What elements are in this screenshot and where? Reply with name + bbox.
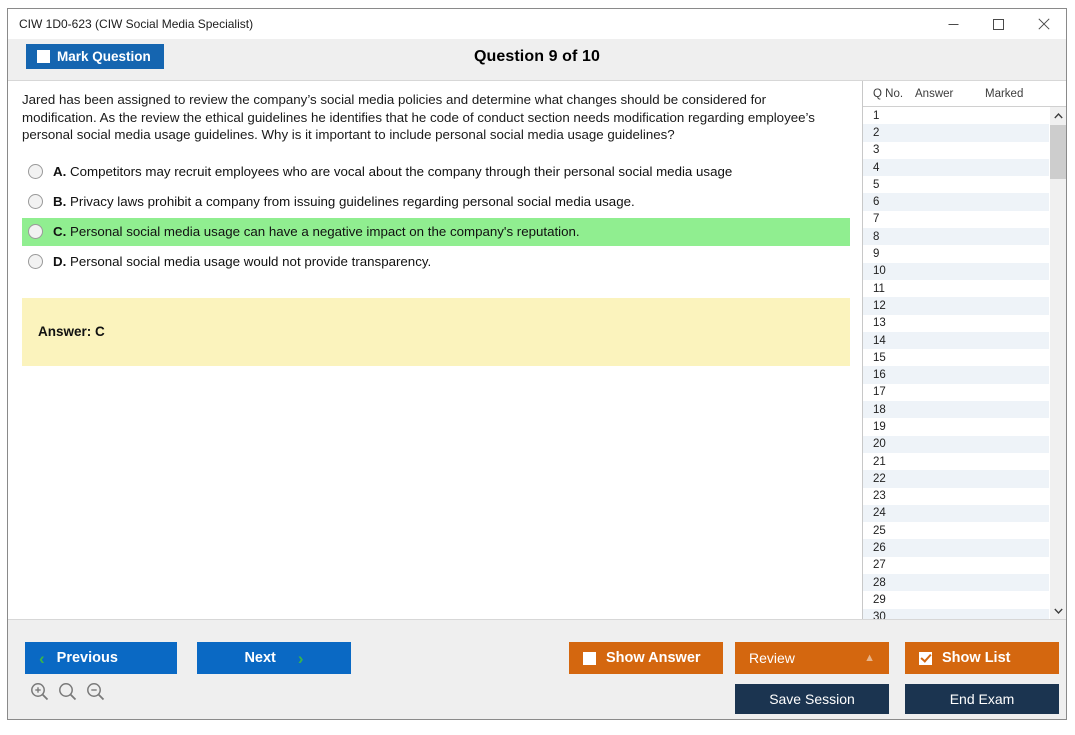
question-list-row[interactable]: 16 <box>863 366 1049 383</box>
question-list-row[interactable]: 7 <box>863 211 1049 228</box>
answer-option-body: Personal social media usage would not pr… <box>70 254 431 269</box>
show-list-label: Show List <box>942 650 1010 666</box>
save-session-label: Save Session <box>769 691 855 707</box>
answer-options-list: A. Competitors may recruit employees who… <box>22 158 850 276</box>
previous-label: Previous <box>57 650 118 666</box>
question-list-row[interactable]: 22 <box>863 470 1049 487</box>
question-number-cell: 15 <box>863 352 915 364</box>
question-list-row[interactable]: 26 <box>863 539 1049 556</box>
show-list-button[interactable]: Show List <box>905 642 1059 674</box>
body-area: Jared has been assigned to review the co… <box>8 81 1066 619</box>
show-list-checkbox-icon <box>919 652 932 665</box>
answer-option-body: Competitors may recruit employees who ar… <box>70 164 732 179</box>
question-list-row[interactable]: 23 <box>863 488 1049 505</box>
question-number-cell: 17 <box>863 386 915 398</box>
question-list-scrollbar[interactable] <box>1049 107 1066 619</box>
chevron-left-icon: ‹ <box>39 650 45 667</box>
header-strip: Mark Question Question 9 of 10 <box>8 39 1066 81</box>
question-list-row[interactable]: 25 <box>863 522 1049 539</box>
previous-button[interactable]: ‹ Previous <box>25 642 177 674</box>
question-list-row[interactable]: 28 <box>863 574 1049 591</box>
show-answer-button[interactable]: Show Answer <box>569 642 723 674</box>
question-list-row[interactable]: 12 <box>863 297 1049 314</box>
question-list-row[interactable]: 10 <box>863 263 1049 280</box>
chevron-right-icon: › <box>298 650 304 667</box>
next-label: Next <box>244 650 275 666</box>
answer-option-b[interactable]: B. Privacy laws prohibit a company from … <box>22 188 850 216</box>
close-icon <box>1038 18 1050 30</box>
question-number-cell: 8 <box>863 231 915 243</box>
question-list-row[interactable]: 27 <box>863 557 1049 574</box>
answer-option-label: A. Competitors may recruit employees who… <box>53 164 732 179</box>
answer-option-label: D. Personal social media usage would not… <box>53 254 431 269</box>
question-number-cell: 30 <box>863 611 915 619</box>
answer-option-letter: D. <box>53 254 66 269</box>
column-header-qno: Q No. <box>863 88 915 100</box>
question-list-row[interactable]: 5 <box>863 176 1049 193</box>
end-exam-button[interactable]: End Exam <box>905 684 1059 714</box>
footer-toolbar: ‹ Previous Next › Show Answer Review ▲ S… <box>8 619 1066 719</box>
zoom-controls <box>30 682 105 701</box>
scroll-up-button[interactable] <box>1050 107 1066 124</box>
minimize-icon <box>948 19 959 30</box>
answer-option-a[interactable]: A. Competitors may recruit employees who… <box>22 158 850 186</box>
answer-option-label: C. Personal social media usage can have … <box>53 224 580 239</box>
answer-option-letter: C. <box>53 224 66 239</box>
answer-option-d[interactable]: D. Personal social media usage would not… <box>22 248 850 276</box>
answer-option-body: Personal social media usage can have a n… <box>70 224 580 239</box>
question-pane: Jared has been assigned to review the co… <box>8 81 862 619</box>
question-list-row[interactable]: 4 <box>863 159 1049 176</box>
question-list-panel: Q No. Answer Marked 12345678910111213141… <box>862 81 1066 619</box>
question-number-cell: 9 <box>863 248 915 260</box>
show-answer-label: Show Answer <box>606 650 701 666</box>
chevron-up-icon <box>1054 113 1063 119</box>
answer-text: Answer: C <box>38 324 105 339</box>
window-title: CIW 1D0-623 (CIW Social Media Specialist… <box>8 17 253 31</box>
scroll-down-button[interactable] <box>1050 602 1066 619</box>
answer-option-body: Privacy laws prohibit a company from iss… <box>70 194 635 209</box>
question-number-cell: 16 <box>863 369 915 381</box>
question-list-rows: 1234567891011121314151617181920212223242… <box>863 107 1049 619</box>
question-number-cell: 29 <box>863 594 915 606</box>
question-number-cell: 3 <box>863 144 915 156</box>
question-number-cell: 14 <box>863 335 915 347</box>
answer-option-c[interactable]: C. Personal social media usage can have … <box>22 218 850 246</box>
question-list-scroll-area: 1234567891011121314151617181920212223242… <box>863 107 1066 619</box>
question-list-row[interactable]: 20 <box>863 436 1049 453</box>
end-exam-label: End Exam <box>950 691 1015 707</box>
question-number-cell: 5 <box>863 179 915 191</box>
maximize-icon <box>993 19 1004 30</box>
answer-option-label: B. Privacy laws prohibit a company from … <box>53 194 635 209</box>
question-list-row[interactable]: 30 <box>863 609 1049 619</box>
zoom-reset-icon[interactable] <box>58 682 77 701</box>
question-list-row[interactable]: 2 <box>863 124 1049 141</box>
question-number-cell: 23 <box>863 490 915 502</box>
question-number-cell: 24 <box>863 507 915 519</box>
radio-button-icon[interactable] <box>28 164 43 179</box>
question-number-cell: 12 <box>863 300 915 312</box>
chevron-down-icon <box>1054 608 1063 614</box>
question-number-cell: 27 <box>863 559 915 571</box>
question-list-row[interactable]: 13 <box>863 315 1049 332</box>
question-number-cell: 28 <box>863 577 915 589</box>
question-list-row[interactable]: 9 <box>863 245 1049 262</box>
answer-reveal-box: Answer: C <box>22 298 850 366</box>
column-header-answer: Answer <box>915 88 985 100</box>
question-number-cell: 21 <box>863 456 915 468</box>
question-number-cell: 11 <box>863 283 915 295</box>
zoom-out-icon[interactable] <box>86 682 105 701</box>
minimize-button[interactable] <box>931 9 976 39</box>
maximize-button[interactable] <box>976 9 1021 39</box>
title-bar: CIW 1D0-623 (CIW Social Media Specialist… <box>8 9 1066 39</box>
radio-button-icon[interactable] <box>28 224 43 239</box>
exam-window: CIW 1D0-623 (CIW Social Media Specialist… <box>7 8 1067 720</box>
question-number-cell: 6 <box>863 196 915 208</box>
question-list-row[interactable]: 15 <box>863 349 1049 366</box>
question-number-cell: 7 <box>863 213 915 225</box>
show-answer-checkbox-icon <box>583 652 596 665</box>
radio-button-icon[interactable] <box>28 194 43 209</box>
answer-option-letter: B. <box>53 194 66 209</box>
scrollbar-thumb[interactable] <box>1050 125 1066 179</box>
question-number-cell: 1 <box>863 110 915 122</box>
question-number-cell: 26 <box>863 542 915 554</box>
question-number-cell: 13 <box>863 317 915 329</box>
close-button[interactable] <box>1021 9 1066 39</box>
review-dropdown-button[interactable]: Review ▲ <box>735 642 889 674</box>
question-number-cell: 22 <box>863 473 915 485</box>
window-controls <box>931 9 1066 39</box>
question-list-header: Q No. Answer Marked <box>863 81 1066 107</box>
question-list-row[interactable]: 8 <box>863 228 1049 245</box>
column-header-marked: Marked <box>985 88 1066 100</box>
question-list-row[interactable]: 19 <box>863 418 1049 435</box>
question-list-row[interactable]: 17 <box>863 384 1049 401</box>
save-session-button[interactable]: Save Session <box>735 684 889 714</box>
question-number-cell: 4 <box>863 162 915 174</box>
question-number-cell: 19 <box>863 421 915 433</box>
question-number-cell: 18 <box>863 404 915 416</box>
question-list-row[interactable]: 18 <box>863 401 1049 418</box>
question-list-row[interactable]: 11 <box>863 280 1049 297</box>
radio-button-icon[interactable] <box>28 254 43 269</box>
question-list-row[interactable]: 3 <box>863 142 1049 159</box>
answer-option-letter: A. <box>53 164 66 179</box>
question-list-row[interactable]: 21 <box>863 453 1049 470</box>
question-stem: Jared has been assigned to review the co… <box>22 91 842 144</box>
question-list-row[interactable]: 1 <box>863 107 1049 124</box>
question-list-row[interactable]: 29 <box>863 591 1049 608</box>
question-list-row[interactable]: 24 <box>863 505 1049 522</box>
page-title: Question 9 of 10 <box>8 48 1066 66</box>
question-number-cell: 25 <box>863 525 915 537</box>
caret-up-icon: ▲ <box>864 653 875 664</box>
zoom-in-icon[interactable] <box>30 682 49 701</box>
next-button[interactable]: Next › <box>197 642 351 674</box>
review-label: Review <box>749 650 795 666</box>
question-number-cell: 10 <box>863 265 915 277</box>
question-number-cell: 20 <box>863 438 915 450</box>
question-number-cell: 2 <box>863 127 915 139</box>
question-list-row[interactable]: 14 <box>863 332 1049 349</box>
question-list-row[interactable]: 6 <box>863 193 1049 210</box>
